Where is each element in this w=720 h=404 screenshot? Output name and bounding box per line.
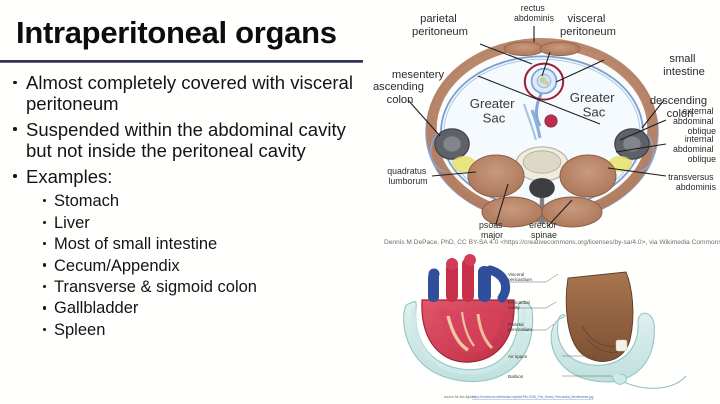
label-transversus-abdominis: transversus abdominis xyxy=(668,172,717,192)
sub-bullet-text: Stomach xyxy=(54,192,119,210)
bullet-marker-icon xyxy=(13,174,17,178)
sub-bullet-item: Transverse & sigmoid colon xyxy=(8,277,360,298)
page-title: Intraperitoneal organs xyxy=(16,16,364,51)
label-balloon: Balloon xyxy=(508,374,524,379)
label-ascending-colon: ascending colon xyxy=(373,81,427,106)
bullet-text: Examples: xyxy=(26,166,112,187)
pericardium-credit-prefix: source for this figure: xyxy=(444,395,475,399)
bullet-marker-icon xyxy=(13,127,17,131)
bullet-list: Almost completely covered with visceral … xyxy=(8,72,360,341)
bullet-item: Suspended within the abdominal cavity bu… xyxy=(8,119,360,162)
sub-bullet-item: Cecum/Appendix xyxy=(8,256,360,277)
sub-bullet-item: Spleen xyxy=(8,320,360,341)
bullet-marker-icon xyxy=(43,328,46,331)
bullet-text: Almost completely covered with visceral … xyxy=(26,72,353,114)
sub-bullet-text: Cecum/Appendix xyxy=(54,257,180,275)
bullet-marker-icon xyxy=(43,285,46,288)
title-divider xyxy=(0,60,363,63)
abdominal-cross-section-figure: parietal peritoneum rectus abdominis vis… xyxy=(364,0,720,250)
bullet-marker-icon xyxy=(43,306,46,309)
sub-bullet-item: Gallbladder xyxy=(8,298,360,319)
label-mesentery: mesentery xyxy=(392,69,445,81)
sub-bullet-text: Spleen xyxy=(54,321,105,339)
figure-panel: parietal peritoneum rectus abdominis vis… xyxy=(364,0,720,404)
sub-bullet-item: Most of small intestine xyxy=(8,234,360,255)
label-internal-abdominal-oblique: internal abdominal oblique xyxy=(673,134,716,164)
slide-canvas: Intraperitoneal organs Almost completely… xyxy=(0,0,720,404)
bullet-text: Suspended within the abdominal cavity bu… xyxy=(26,119,346,161)
fist-in-balloon-analogy xyxy=(551,272,686,388)
bullet-marker-icon xyxy=(43,263,46,266)
bullet-item: Almost completely covered with visceral … xyxy=(8,72,360,115)
vertebra-and-posterior-muscles xyxy=(468,147,616,227)
sub-bullet-text: Gallbladder xyxy=(54,299,138,317)
label-quadratus-lumborum: quadratus lumborum xyxy=(387,166,429,186)
label-rectus-abdominis: rectus abdominis xyxy=(514,3,555,23)
label-small-intestine: small intestine xyxy=(663,53,705,78)
label-erector-spinae: erector spinae xyxy=(529,220,559,240)
label-visceral-peritoneum: visceral peritoneum xyxy=(560,13,616,38)
label-psoas-major: psoas major xyxy=(479,220,505,240)
figure-credit: Dennis M DePace, PhD, CC BY-SA 4.0 <http… xyxy=(384,239,720,246)
pericardium-credit-link[interactable]: https://commons.wikimedia.org/wiki/File:… xyxy=(472,395,594,399)
sub-bullet-item: Liver xyxy=(8,213,360,234)
sub-bullet-text: Transverse & sigmoid colon xyxy=(54,278,257,296)
label-parietal-peritoneum: parietal peritoneum xyxy=(412,13,468,38)
sub-bullet-text: Most of small intestine xyxy=(54,235,217,253)
sub-bullet-item: Stomach xyxy=(8,191,360,212)
bullet-marker-icon xyxy=(43,221,46,224)
sub-bullet-text: Liver xyxy=(54,214,90,232)
bullet-marker-icon xyxy=(43,199,46,202)
bullet-marker-icon xyxy=(43,242,46,245)
bullet-marker-icon xyxy=(13,81,17,85)
label-air-space: Air space xyxy=(508,354,528,359)
label-visceral-pericardium: Visceral pericardium xyxy=(508,272,532,282)
bullet-item: Examples: xyxy=(8,166,360,187)
sub-bullet-list: Stomach Liver Most of small intestine Ce… xyxy=(8,191,360,341)
pericardium-figure: Visceral pericardium Pericardial cavity … xyxy=(386,252,706,402)
